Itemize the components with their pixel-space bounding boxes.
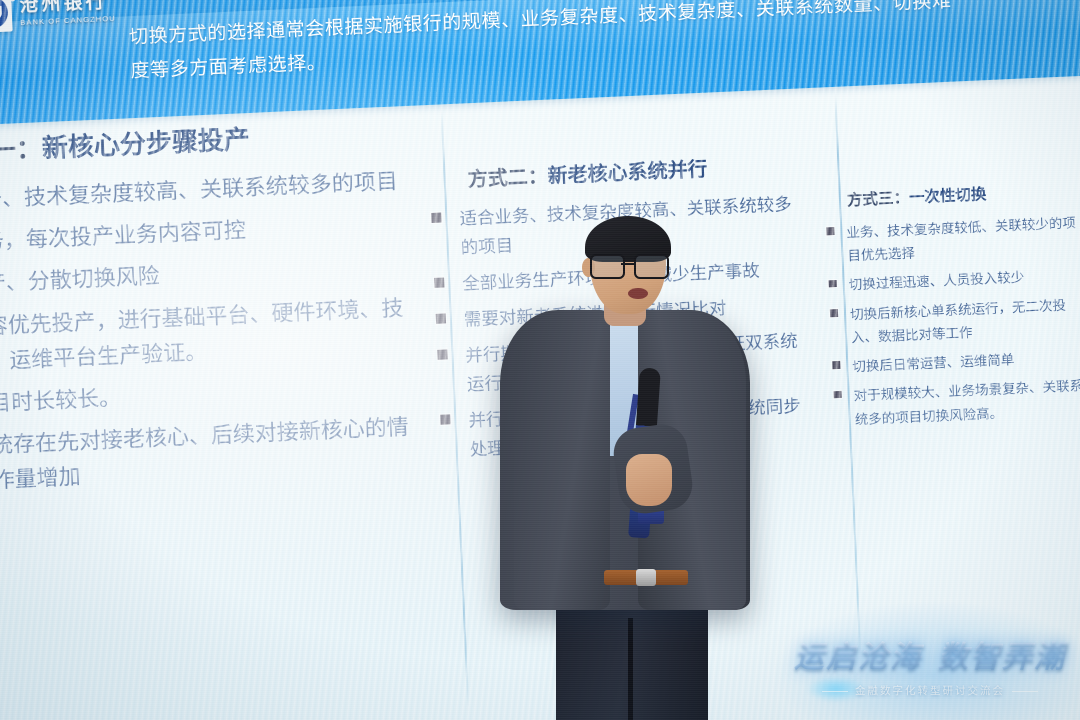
- vignette-overlay: [0, 0, 1080, 720]
- photo-frame: 核心环境的切换方式 切换方式的选择通常会根据实施银行的规模、业务复杂度、技术复杂…: [0, 0, 1080, 720]
